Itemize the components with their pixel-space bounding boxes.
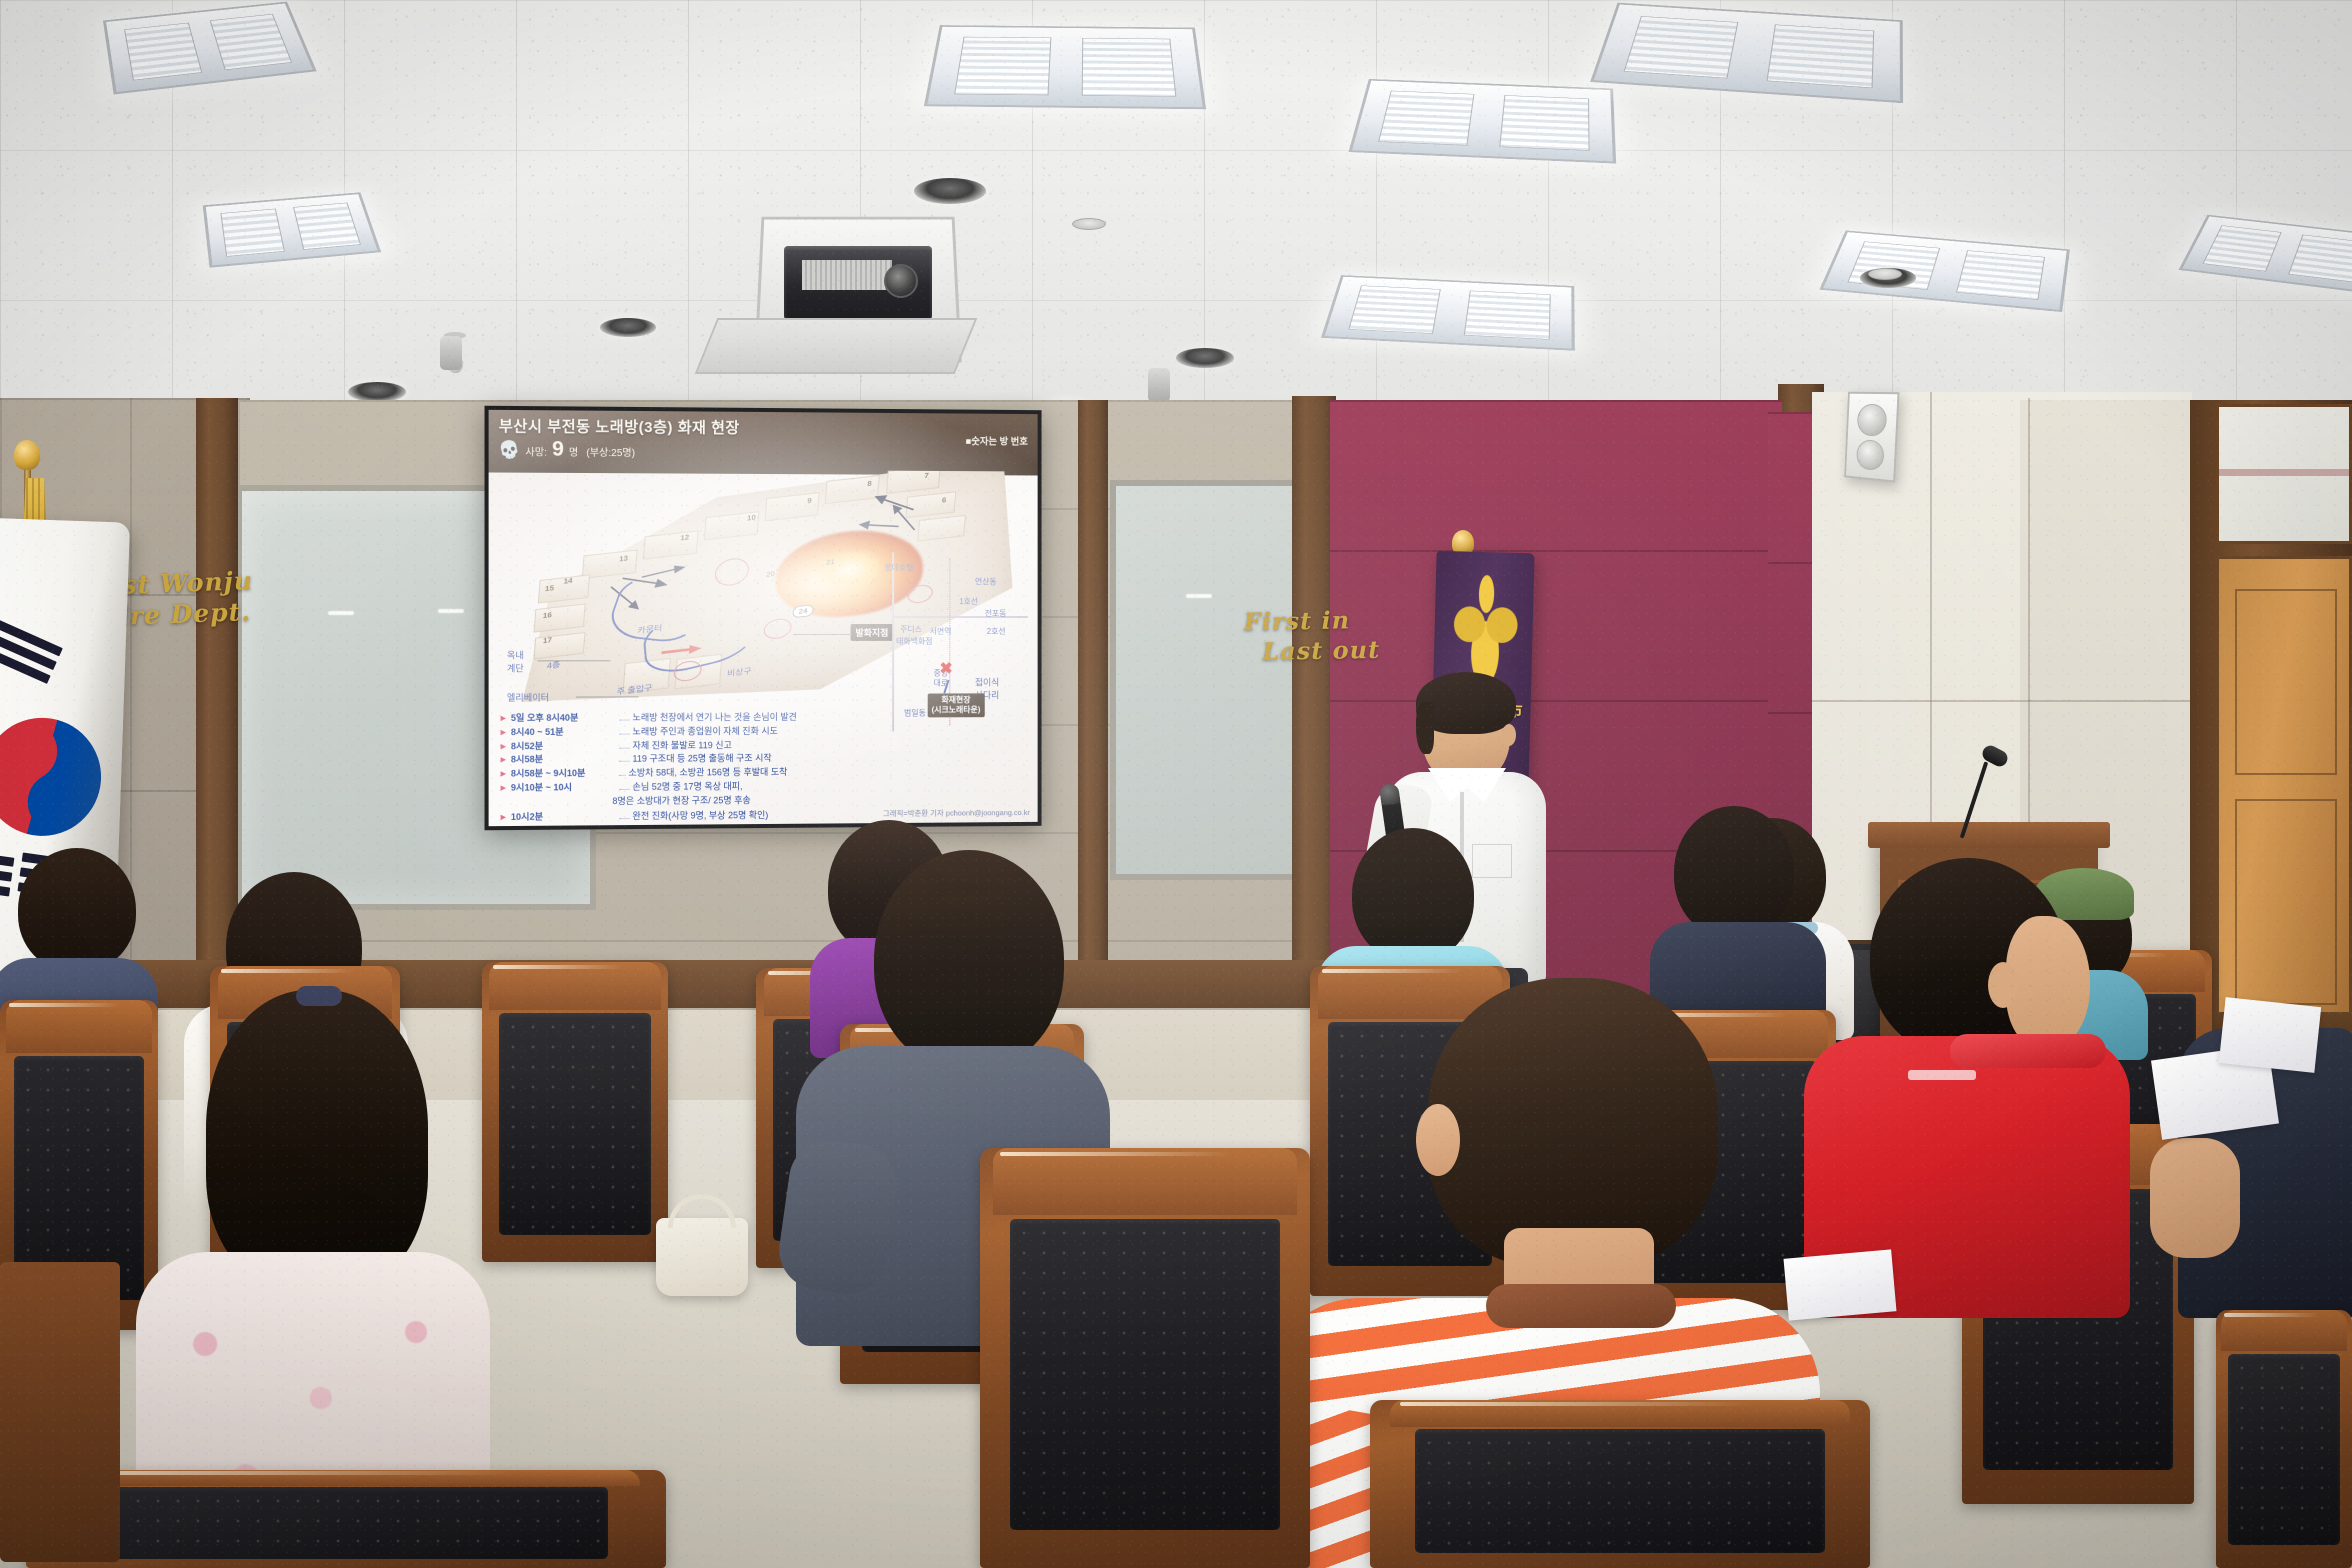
red-x-icon: ✖ bbox=[940, 662, 953, 678]
map-landmark: 태화백화점 bbox=[896, 636, 932, 647]
map-landmark: 주디스 bbox=[900, 624, 922, 635]
attendee-hair bbox=[206, 990, 428, 1290]
slide-legend-note: ■숫자는 방 번호 bbox=[966, 433, 1028, 447]
timeline-desc: 소방차 58대, 소방관 156명 등 후발대 도착 bbox=[628, 767, 787, 779]
fire-site-tag: 화재현장 (시크노래타운) bbox=[928, 693, 985, 717]
timeline-bullet: ► bbox=[499, 768, 508, 779]
plan-label-indoor-stairs: 옥내 계단 bbox=[507, 648, 524, 674]
timeline-time: 9시10분 ~ 10시 bbox=[511, 782, 616, 794]
casualty-count: 9 bbox=[552, 441, 564, 460]
timeline-desc: 자체 진화 불발로 119 신고 bbox=[632, 740, 731, 752]
plan-room-number: 6 bbox=[942, 496, 947, 504]
track-spotlight bbox=[440, 336, 462, 370]
incident-timeline: ► 5일 오후 8시40분 노래방 천장에서 연기 나는 것을 손님이 발견 ►… bbox=[499, 712, 861, 827]
chair-pad bbox=[1010, 1219, 1281, 1530]
timeline-desc: 화재 감식반 현장 조사 bbox=[632, 824, 714, 826]
timeline-time: 8시40 ~ 51분 bbox=[511, 726, 616, 738]
label-leader-line bbox=[537, 660, 610, 661]
lectern-top bbox=[1868, 822, 2110, 848]
timeline-desc-continued: 8명은 소방대가 현장 구조/ 25명 후송 bbox=[499, 794, 861, 808]
timeline-leader bbox=[619, 768, 625, 776]
plan-room-number: 8 bbox=[867, 479, 872, 487]
plan-room-number: 10 bbox=[747, 513, 756, 522]
timeline-bullet: ► bbox=[499, 826, 508, 827]
slide-credit: 그래픽=박춘환 기자 pchoonh@joongang.co.kr bbox=[883, 807, 1030, 819]
timeline-bullet: ► bbox=[499, 727, 508, 738]
fire-core-graphic bbox=[818, 547, 882, 593]
timeline-bullet: ► bbox=[499, 755, 508, 766]
smoke-detector bbox=[1072, 218, 1106, 230]
callout-leader-line bbox=[793, 634, 853, 635]
map-road bbox=[892, 616, 1028, 617]
timeline-row: ► 9시10분 ~ 10시 손님 52명 중 17명 옥상 대피, bbox=[499, 780, 861, 794]
ceiling-light-fixture bbox=[1348, 79, 1616, 164]
timeline-bullet: ► bbox=[499, 812, 508, 823]
injured-note: (부상:25명) bbox=[586, 444, 635, 459]
slide-title: 부산시 부전동 노래방(3층) 화재 현장 bbox=[499, 415, 1028, 440]
polo-collar bbox=[1486, 1284, 1676, 1328]
flag-finial bbox=[14, 440, 40, 470]
plan-room-number: 21 bbox=[826, 558, 835, 567]
map-station: 범일동 bbox=[904, 707, 926, 718]
plan-room-number: 20 bbox=[766, 570, 775, 579]
timeline-leader bbox=[619, 811, 629, 819]
timeline-row: ► 8시58분 119 구조대 등 25명 출동해 구조 시작 bbox=[499, 753, 861, 766]
plan-room-number: 16 bbox=[543, 611, 553, 620]
timeline-leader bbox=[619, 740, 629, 748]
timeline-row: ► 5일 오후 8시40분 노래방 천장에서 연기 나는 것을 손님이 발견 bbox=[499, 712, 861, 725]
presenter-ear bbox=[1502, 724, 1516, 746]
polo-collar bbox=[1950, 1034, 2106, 1068]
projection-screen: 부산시 부전동 노래방(3층) 화재 현장 💀 사망: 9 명 (부상:25명)… bbox=[485, 406, 1042, 831]
attendee-hair bbox=[1428, 978, 1718, 1268]
chair[interactable] bbox=[980, 1148, 1310, 1568]
map-station: 연산동 bbox=[975, 576, 997, 587]
ceiling-downlight bbox=[600, 318, 656, 337]
attendee-hair bbox=[1352, 828, 1474, 962]
door-transom-window bbox=[2216, 404, 2352, 544]
wall-motto-right-line2: Last out bbox=[1244, 635, 1380, 667]
plan-room-number: 9 bbox=[807, 497, 812, 506]
wall-motto-right: First in Last out bbox=[1243, 605, 1380, 667]
plan-label-indoor-stairs-l1: 옥내 bbox=[507, 650, 524, 660]
map-station: 서면역 bbox=[930, 626, 952, 637]
map-line-label: 2호선 bbox=[987, 626, 1006, 637]
projected-slide: 부산시 부전동 노래방(3층) 화재 현장 💀 사망: 9 명 (부상:25명)… bbox=[489, 410, 1038, 826]
location-inset-map: 주디스 태화백화점 연산동 1호선 전포동 서면역 2호선 중앙 대로 범일동 … bbox=[884, 552, 1032, 733]
timeline-bullet: ► bbox=[499, 782, 508, 793]
timeline-bullet: ► bbox=[499, 713, 508, 724]
timeline-leader bbox=[619, 782, 629, 790]
plan-label-elevator: 엘리베이터 bbox=[507, 691, 549, 704]
body-outline-icon: 💀 bbox=[497, 439, 522, 460]
track-spotlight bbox=[1148, 368, 1170, 402]
chair-seat[interactable] bbox=[0, 1262, 120, 1562]
attendee-face bbox=[2006, 916, 2090, 1048]
timeline-time: 8시58분 ~ 9시10분 bbox=[511, 768, 616, 780]
projector-lift-panel bbox=[695, 318, 978, 374]
attendee-red-polo bbox=[1812, 858, 2142, 1298]
projector-vent bbox=[802, 260, 892, 290]
plan-room-number: 15 bbox=[545, 584, 555, 593]
attendee-hair bbox=[1674, 806, 1794, 938]
timeline-desc: 노래방 천장에서 연기 나는 것을 손님이 발견 bbox=[632, 712, 796, 724]
auditorium-scene: Best Wonju Fire Dept. First in Last out … bbox=[0, 0, 2352, 1568]
map-line-label: 1호선 bbox=[959, 596, 978, 607]
fire-site-tag-l1: 화재현장 bbox=[942, 695, 971, 704]
attendee-ear bbox=[1988, 962, 2018, 1008]
label-leader-line bbox=[576, 696, 639, 697]
timeline-time: 10시2분 bbox=[511, 811, 616, 823]
plan-label-indoor-stairs-l2: 계단 bbox=[507, 663, 524, 673]
timeline-row: ► 8시58분 ~ 9시10분 소방차 58대, 소방관 156명 등 후발대 … bbox=[499, 766, 861, 779]
timeline-time: 5일 오후 8시40분 bbox=[511, 713, 616, 725]
timeline-leader bbox=[619, 825, 629, 827]
slide-casualty-summary: 💀 사망: 9 명 (부상:25명) bbox=[499, 440, 1028, 462]
map-station: 전포동 bbox=[985, 608, 1007, 619]
wall-seam bbox=[1812, 700, 2210, 702]
plan-room-number: 7 bbox=[924, 471, 929, 479]
wall-pa-speaker bbox=[1844, 392, 1899, 483]
timeline-row: ► 8시40 ~ 51분 노래방 주인과 종업원이 자체 진화 시도 bbox=[499, 725, 861, 738]
ceiling-downlight bbox=[1176, 348, 1234, 368]
map-road bbox=[892, 552, 893, 731]
timeline-time: 8시52분 bbox=[511, 740, 616, 752]
timeline-desc: 손님 52명 중 17명 옥상 대피, bbox=[632, 781, 742, 793]
slide-header: 부산시 부전동 노래방(3층) 화재 현장 💀 사망: 9 명 (부상:25명)… bbox=[489, 410, 1038, 476]
chair-pad bbox=[499, 1013, 652, 1235]
timeline-leader bbox=[619, 726, 629, 734]
timeline-leader bbox=[619, 712, 629, 720]
chair-pad bbox=[1415, 1429, 1825, 1553]
ceiling-light-fixture bbox=[1321, 275, 1575, 351]
casualty-label: 사망: bbox=[525, 443, 547, 458]
timeline-time: 8시58분 bbox=[511, 754, 616, 766]
attendee-hair bbox=[874, 850, 1064, 1070]
projector-lens bbox=[884, 264, 918, 298]
chair[interactable] bbox=[26, 1470, 666, 1568]
timeline-desc: 119 구조대 등 25명 출동해 구조 시작 bbox=[632, 753, 771, 765]
plan-room-number: 14 bbox=[563, 576, 573, 585]
chair[interactable] bbox=[1370, 1400, 1870, 1568]
attendee-hair bbox=[18, 848, 136, 972]
handout-paper[interactable] bbox=[2219, 997, 2321, 1073]
casualty-unit: 명 bbox=[569, 444, 578, 459]
plan-label-outdoor-stairs: 옥외계단 bbox=[639, 700, 673, 703]
polo-logo bbox=[1908, 1070, 1976, 1080]
wall-motto-right-line1: First in bbox=[1243, 605, 1379, 637]
plan-room-number: 12 bbox=[680, 533, 690, 542]
attendee-ear bbox=[1416, 1104, 1460, 1176]
map-landmark: 롯데호텔 bbox=[884, 562, 913, 573]
chair-pad bbox=[84, 1487, 609, 1560]
smoke-detector bbox=[1868, 268, 1902, 280]
ceiling-light-fixture bbox=[924, 25, 1206, 109]
hair-tie bbox=[296, 986, 342, 1006]
timeline-leader bbox=[619, 754, 629, 762]
attendee-arm bbox=[2150, 1138, 2240, 1258]
timeline-desc: 노래방 주인과 종업원이 자체 진화 시도 bbox=[632, 726, 777, 738]
chair[interactable] bbox=[2216, 1310, 2352, 1568]
timeline-bullet: ► bbox=[499, 741, 508, 752]
timeline-time: 6일 오전 11시 bbox=[511, 825, 616, 827]
chair-pad bbox=[2228, 1354, 2340, 1545]
handbag bbox=[656, 1218, 748, 1296]
presenter-hair-side bbox=[1416, 702, 1434, 754]
golden-phoenix-emblem bbox=[1447, 567, 1524, 687]
ceiling-downlight bbox=[914, 178, 986, 204]
ceiling-downlight bbox=[348, 382, 406, 402]
timeline-row: ► 8시52분 자체 진화 불발로 119 신고 bbox=[499, 739, 861, 752]
fire-site-tag-l2: (시크노래타운) bbox=[932, 705, 981, 714]
plan-room-number: 13 bbox=[619, 554, 629, 563]
timeline-desc: 완전 진화(사망 9명, 부상 25명 확인) bbox=[632, 810, 768, 822]
plan-room-number: 17 bbox=[543, 636, 553, 645]
